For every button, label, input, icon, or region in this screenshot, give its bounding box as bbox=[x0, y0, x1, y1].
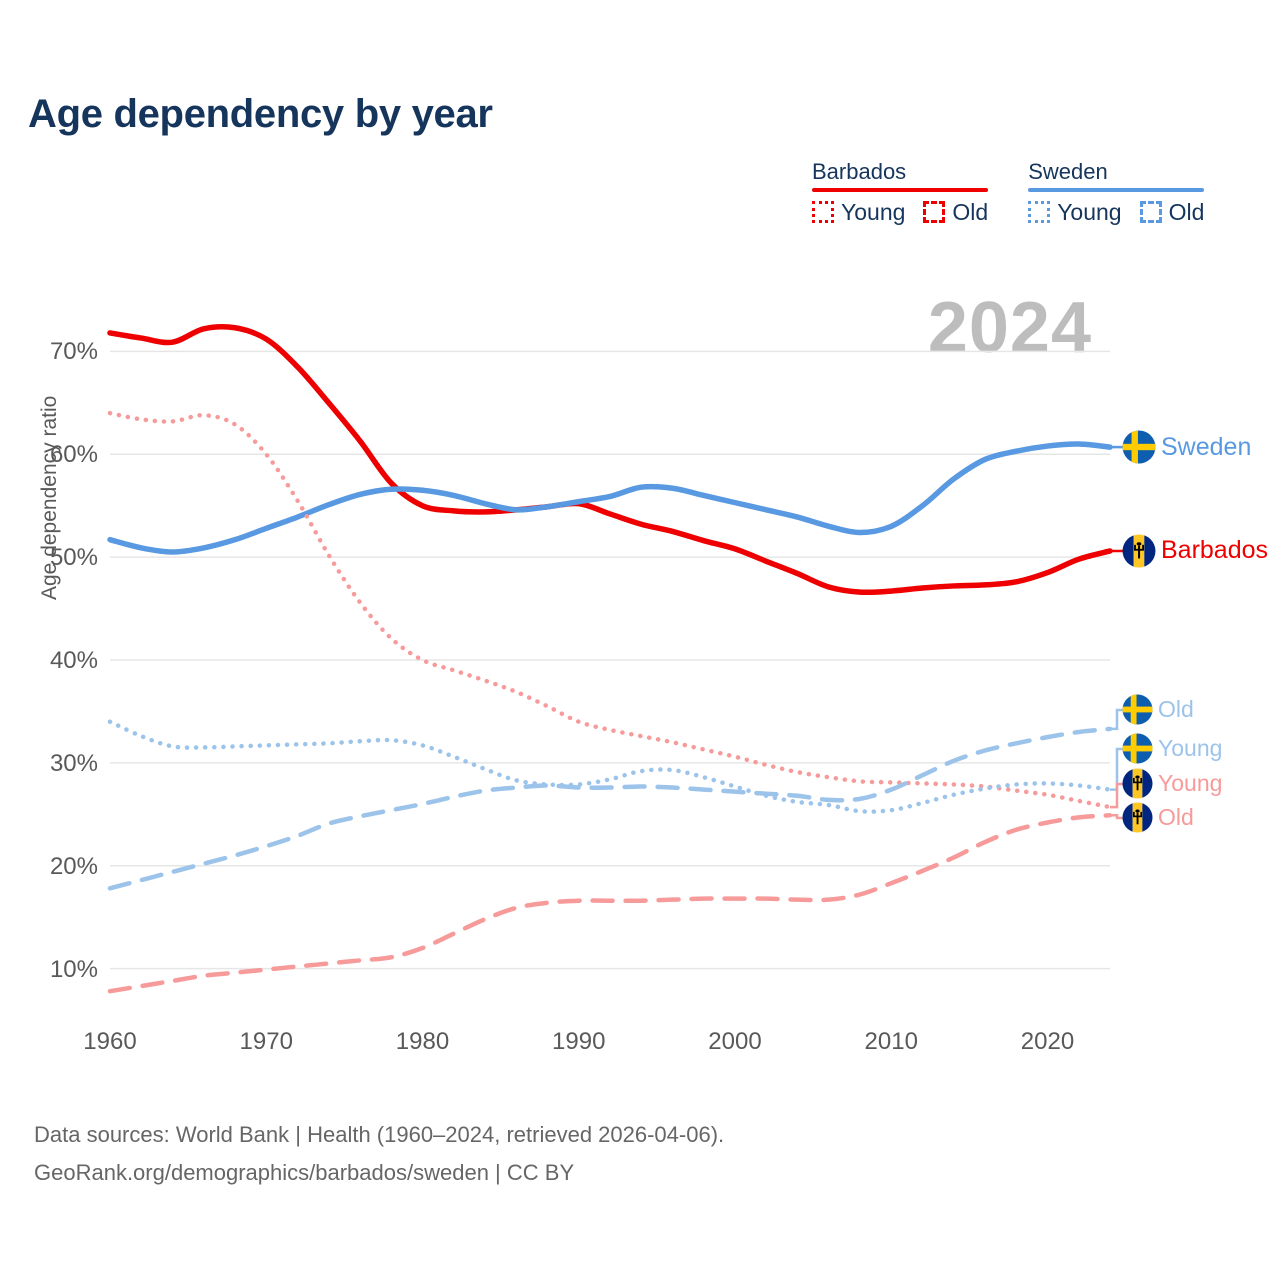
legend-swatch-dashed-icon bbox=[923, 201, 945, 223]
barbados-flag-icon bbox=[1122, 534, 1156, 568]
callout-sweden-total[interactable]: Sweden bbox=[1122, 430, 1251, 464]
sweden-flag-icon bbox=[1122, 694, 1153, 725]
legend-label-barbados-old: Old bbox=[952, 199, 988, 226]
callout-label-barbados-total: Barbados bbox=[1161, 536, 1268, 565]
series-line-sweden-old bbox=[110, 729, 1110, 888]
callout-barbados-old[interactable]: Old bbox=[1122, 802, 1194, 833]
x-tick-label: 2010 bbox=[846, 1028, 936, 1056]
legend-swatch-dotted-icon bbox=[812, 201, 834, 223]
legend-item-sweden-old[interactable]: Old bbox=[1140, 199, 1205, 226]
legend-country-sweden[interactable]: Sweden bbox=[1028, 160, 1108, 188]
callout-label-barbados-young: Young bbox=[1158, 770, 1222, 797]
legend-rule-barbados bbox=[812, 188, 988, 192]
sweden-flag-icon bbox=[1122, 733, 1153, 764]
legend-label-barbados-young: Young bbox=[841, 199, 905, 226]
barbados-flag-icon bbox=[1122, 534, 1156, 568]
legend-swatch-dashed-icon bbox=[1140, 201, 1162, 223]
page-title: Age dependency by year bbox=[28, 92, 493, 137]
x-tick-label: 1970 bbox=[221, 1028, 311, 1056]
y-tick-label: 40% bbox=[16, 647, 98, 675]
x-tick-label: 1960 bbox=[65, 1028, 155, 1056]
y-tick-label: 30% bbox=[16, 750, 98, 778]
barbados-flag-icon bbox=[1122, 768, 1153, 799]
legend-swatch-dotted-icon bbox=[1028, 201, 1050, 223]
x-tick-label: 1990 bbox=[534, 1028, 624, 1056]
callout-barbados-total[interactable]: Barbados bbox=[1122, 534, 1268, 568]
barbados-flag-icon bbox=[1122, 802, 1153, 833]
callout-label-sweden-total: Sweden bbox=[1161, 433, 1251, 462]
sweden-flag-icon bbox=[1122, 430, 1156, 464]
sweden-flag-icon bbox=[1122, 733, 1153, 764]
chart-root: Age dependency by year Barbados Young Ol… bbox=[0, 0, 1280, 1280]
chart-legend: Barbados Young Old Sweden Young bbox=[812, 160, 1204, 226]
callout-sweden-young[interactable]: Young bbox=[1122, 733, 1222, 764]
legend-group-barbados: Barbados Young Old bbox=[812, 160, 988, 226]
y-tick-label: 20% bbox=[16, 853, 98, 881]
callout-label-barbados-old: Old bbox=[1158, 804, 1194, 831]
series-line-barbados-old bbox=[110, 815, 1110, 991]
y-tick-label: 10% bbox=[16, 956, 98, 984]
legend-rule-sweden bbox=[1028, 188, 1204, 192]
legend-country-barbados[interactable]: Barbados bbox=[812, 160, 906, 188]
callout-label-sweden-young: Young bbox=[1158, 735, 1222, 762]
legend-item-barbados-old[interactable]: Old bbox=[923, 199, 988, 226]
legend-item-barbados-young[interactable]: Young bbox=[812, 199, 905, 226]
sweden-flag-icon bbox=[1122, 694, 1153, 725]
callout-sweden-old[interactable]: Old bbox=[1122, 694, 1194, 725]
x-tick-label: 1980 bbox=[378, 1028, 468, 1056]
series-line-sweden-total bbox=[110, 444, 1110, 552]
series-line-sweden-young bbox=[110, 722, 1110, 812]
legend-group-sweden: Sweden Young Old bbox=[1028, 160, 1204, 226]
y-tick-label: 50% bbox=[16, 544, 98, 572]
series-line-barbados-total bbox=[110, 327, 1110, 593]
barbados-flag-icon bbox=[1122, 802, 1153, 833]
callout-barbados-young[interactable]: Young bbox=[1122, 768, 1222, 799]
legend-item-sweden-young[interactable]: Young bbox=[1028, 199, 1121, 226]
callout-label-sweden-old: Old bbox=[1158, 696, 1194, 723]
footer-attribution: GeoRank.org/demographics/barbados/sweden… bbox=[34, 1154, 724, 1192]
y-tick-label: 70% bbox=[16, 338, 98, 366]
x-tick-label: 2020 bbox=[1003, 1028, 1093, 1056]
footer: Data sources: World Bank | Health (1960–… bbox=[34, 1116, 724, 1192]
footer-data-sources: Data sources: World Bank | Health (1960–… bbox=[34, 1116, 724, 1154]
x-tick-label: 2000 bbox=[690, 1028, 780, 1056]
legend-label-sweden-young: Young bbox=[1057, 199, 1121, 226]
sweden-flag-icon bbox=[1122, 430, 1156, 464]
plot-area: 2024 Age dependency ratio 10%20%30%40%50… bbox=[110, 300, 1110, 1020]
barbados-flag-icon bbox=[1122, 768, 1153, 799]
legend-label-sweden-old: Old bbox=[1169, 199, 1205, 226]
y-tick-label: 60% bbox=[16, 441, 98, 469]
plot-canvas bbox=[110, 300, 1110, 1020]
